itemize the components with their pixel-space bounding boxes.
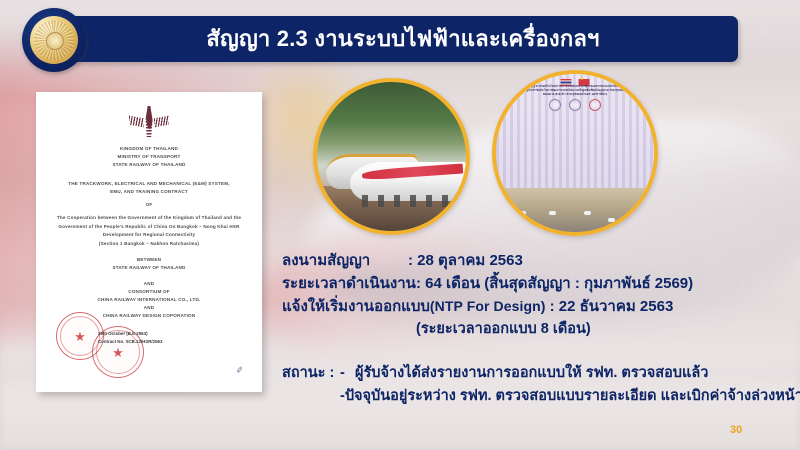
logo-body — [144, 106, 155, 137]
doc-consortium-label: CONSORTIUM OF — [49, 288, 249, 296]
doc-of-label: OF — [49, 201, 249, 209]
doc-contract-title-line-2: EMU, AND TRAINING CONTRACT — [49, 188, 249, 196]
status-block: สถานะ : - ผู้รับจ้างได้ส่งรายงานการออกแบ… — [282, 362, 794, 409]
contract-signing-ceremony-photo[interactable]: พิธีลงนามในสัญญาการก่อสร้างโครงการความร่… — [492, 70, 658, 236]
slide-title-bar: สัญญา 2.3 งานระบบไฟฟ้าและเครื่องกลฯ — [68, 16, 738, 62]
doc-party-2: CHINA RAILWAY INTERNATIONAL CO., LTD. — [49, 296, 249, 304]
logo-wing-right — [154, 116, 169, 128]
doc-org-line-2: MINISTRY OF TRANSPORT — [49, 153, 249, 161]
info-value-signing-date: : 28 ตุลาคม 2563 — [408, 250, 523, 273]
ceremony-seal-1 — [549, 99, 561, 111]
info-value-duration: : 64 เดือน (สิ้นสุดสัญญา : กุมภาพันธ์ 25… — [416, 273, 693, 296]
info-label-ntp: แจ้งให้เริ่มงานออกแบบ — [282, 296, 430, 319]
status-item-1: ผู้รับจ้างได้ส่งรายงานการออกแบบให้ รฟท. … — [355, 362, 708, 385]
doc-and-label-1: AND — [49, 280, 249, 288]
info-row-ntp: แจ้งให้เริ่มงานออกแบบ (NTP For Design) :… — [282, 296, 792, 319]
status-label: สถานะ : — [282, 362, 340, 385]
info-label-duration: ระยะเวลาดำเนินงาน — [282, 273, 416, 296]
doc-contract-no-line: Contract No. SCB.12/HSR/2563 — [98, 338, 162, 346]
ceremony-stage-floor — [496, 188, 654, 232]
contract-document-image[interactable]: KINGDOM OF THAILAND MINISTRY OF TRANSPOR… — [36, 92, 262, 392]
doc-cooperation-text: The Cooperation between the Government o… — [49, 214, 249, 239]
slide-root: สัญญา 2.3 งานระบบไฟฟ้าและเครื่องกลฯ KING… — [0, 0, 800, 450]
train-bogies — [362, 195, 460, 207]
doc-org-line-1: KINGDOM OF THAILAND — [49, 145, 249, 153]
logo-wing-left — [129, 116, 144, 128]
info-row-design-period: (ระยะเวลาออกแบบ 8 เดือน) — [282, 318, 792, 340]
info-ntp-latin: (NTP For Design) — [430, 296, 546, 317]
doc-contract-title-line-1: THE TRACKWORK, ELECTRICAL AND MECHANICAL… — [49, 180, 249, 188]
doc-between-label: BETWEEN — [49, 256, 249, 264]
status-row-1: สถานะ : - ผู้รับจ้างได้ส่งรายงานการออกแบ… — [282, 362, 794, 385]
state-railway-of-thailand-emblem — [22, 8, 86, 72]
doc-section-text: (Section 1 Bangkok – Nakhon Ratchasima) — [49, 240, 249, 248]
doc-signing-meta: 28th October (B.E.2563) Contract No. SCB… — [98, 330, 162, 347]
status-bullet-dash-1: - — [340, 362, 355, 385]
srt-winged-wheel-logo — [129, 106, 169, 138]
ceremony-seal-3 — [589, 99, 601, 111]
info-value-ntp: : 22 ธันวาคม 2563 — [550, 296, 674, 319]
info-row-duration: ระยะเวลาดำเนินงาน : 64 เดือน (สิ้นสุดสัญ… — [282, 273, 792, 296]
page-number: 30 — [730, 424, 742, 436]
doc-party-1: STATE RAILWAY OF THAILAND — [49, 264, 249, 272]
ceremony-seal-2 — [569, 99, 581, 111]
high-speed-train-photo[interactable] — [313, 78, 470, 235]
ceremony-seal-row — [549, 99, 601, 111]
info-row-signing-date: ลงนามสัญญา : 28 ตุลาคม 2563 — [282, 250, 792, 273]
doc-date-line: 28th October (B.E.2563) — [98, 330, 162, 338]
page-title: สัญญา 2.3 งานระบบไฟฟ้าและเครื่องกลฯ — [206, 28, 599, 50]
emblem-gold-disc — [30, 16, 78, 64]
info-value-design-period: (ระยะเวลาออกแบบ 8 เดือน) — [416, 318, 591, 340]
status-row-2: - ปัจจุบันอยู่ระหว่าง รฟท. ตรวจสอบแบบราย… — [282, 385, 794, 408]
ceremony-backdrop-text: พิธีลงนามในสัญญาการก่อสร้างโครงการความร่… — [512, 85, 638, 98]
status-item-2: ปัจจุบันอยู่ระหว่าง รฟท. ตรวจสอบแบบรายละ… — [345, 385, 800, 408]
contract-info-block: ลงนามสัญญา : 28 ตุลาคม 2563 ระยะเวลาดำเน… — [282, 250, 792, 340]
doc-org-line-3: STATE RAILWAY OF THAILAND — [49, 161, 249, 169]
info-label-signing-date: ลงนามสัญญา — [282, 250, 408, 273]
